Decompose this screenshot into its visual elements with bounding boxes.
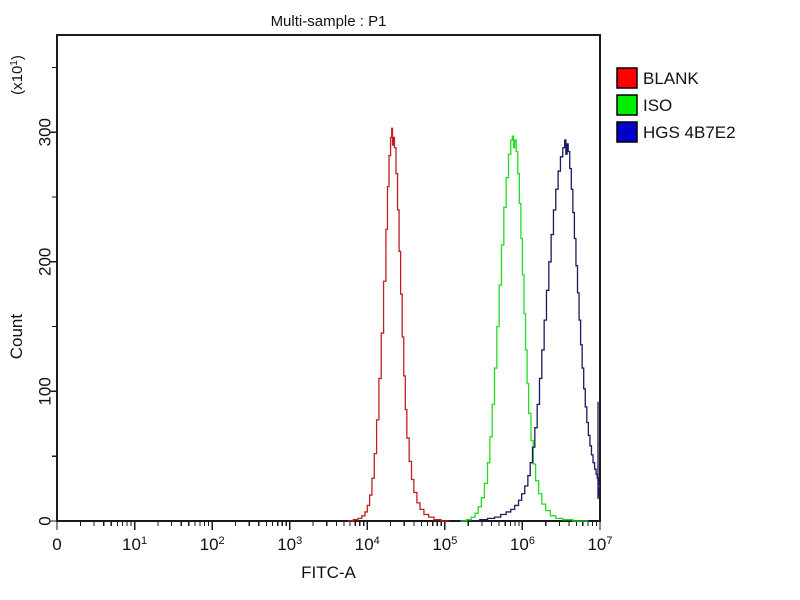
x-tick-label: 107 [587, 535, 612, 554]
x-tick-label: 103 [277, 535, 302, 554]
histogram-plot: 0100200300Count(x101)0101102103104105106… [0, 0, 800, 600]
legend-swatch-iso [617, 95, 637, 115]
legend-item: HGS 4B7E2 [617, 122, 736, 142]
legend-label-iso: ISO [643, 96, 672, 115]
trace-iso [460, 136, 588, 521]
legend-swatch-hgs-4b7e2 [617, 122, 637, 142]
y-tick-label: 0 [36, 516, 55, 525]
y-axis-title: Count [7, 314, 26, 360]
y-axis-multiplier-text: (x101) [9, 55, 27, 95]
x-tick-label: 106 [510, 535, 535, 554]
flow-cytometry-figure: 0100200300Count(x101)0101102103104105106… [0, 0, 800, 600]
x-tick-label: 0 [52, 535, 61, 554]
legend-label-blank: BLANK [643, 69, 699, 88]
x-tick-label: 104 [355, 535, 380, 554]
plot-title: Multi-sample : P1 [271, 13, 387, 30]
x-axis-title: FITC-A [301, 563, 356, 582]
y-tick-label: 300 [36, 118, 55, 146]
x-tick-label: 105 [432, 535, 457, 554]
legend-item: ISO [617, 95, 672, 115]
x-tick-label: 102 [200, 535, 225, 554]
y-tick-label: 200 [36, 248, 55, 276]
legend-label-hgs-4b7e2: HGS 4B7E2 [643, 123, 736, 142]
y-tick-label: 100 [36, 377, 55, 405]
trace-blank [348, 128, 449, 521]
plot-frame [57, 35, 600, 521]
legend-swatch-blank [617, 68, 637, 88]
x-tick-label: 101 [122, 535, 147, 554]
legend-item: BLANK [617, 68, 699, 88]
y-axis-multiplier: (x101) [9, 55, 27, 95]
